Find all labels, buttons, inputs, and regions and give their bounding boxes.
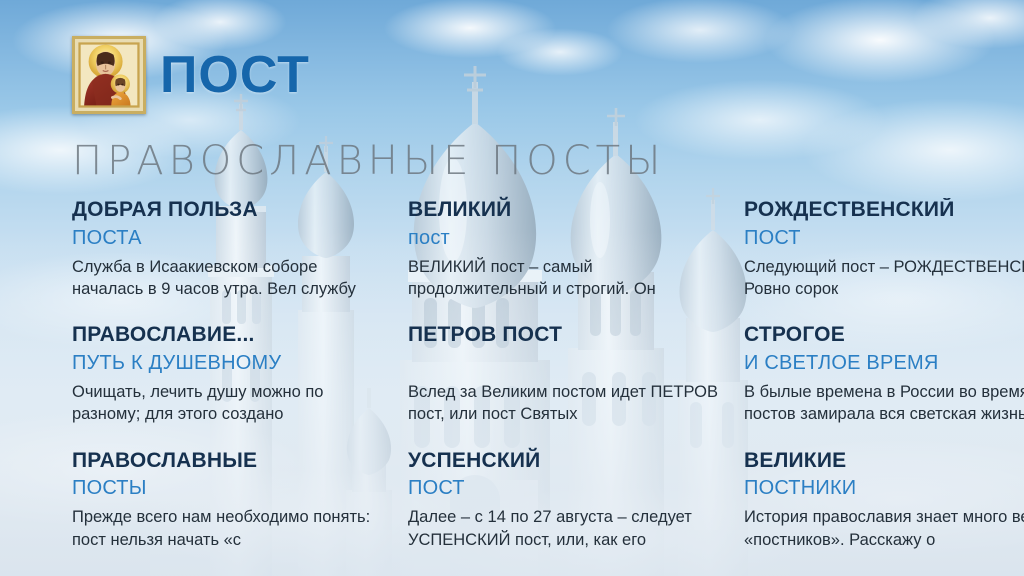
article-subheading: ПОСТ: [408, 477, 744, 500]
column-2: ВЕЛИКИЙ пост ВЕЛИКИЙ пост – самый продол…: [408, 198, 744, 574]
page-root: ПОСТ ПРАВОСЛАВНЫЕ ПОСТЫ ДОБРАЯ ПОЛЬЗА ПО…: [0, 0, 1024, 576]
article-heading: ПРАВОСЛАВИЕ...: [72, 323, 408, 347]
article-heading: ВЕЛИКИЙ: [408, 198, 744, 222]
article-heading: СТРОГОЕ: [744, 323, 1024, 347]
article-subheading: ПУТЬ К ДУШЕВНОМУ: [72, 352, 408, 375]
article-card[interactable]: ПРАВОСЛАВИЕ... ПУТЬ К ДУШЕВНОМУ Очищать,…: [72, 323, 408, 425]
article-body: Служба в Исаакиевском соборе началась в …: [72, 256, 382, 301]
article-subheading: ПОСТА: [72, 227, 408, 250]
page-subtitle: ПРАВОСЛАВНЫЕ ПОСТЫ: [72, 138, 665, 184]
site-header: ПОСТ: [72, 36, 310, 114]
article-body: В былые времена в России во время постов…: [744, 381, 1024, 426]
article-heading: УСПЕНСКИЙ: [408, 449, 744, 473]
article-card[interactable]: ВЕЛИКИЕ ПОСТНИКИ История православия зна…: [744, 449, 1024, 551]
site-title: ПОСТ: [160, 49, 310, 101]
article-subheading: пост: [408, 227, 744, 250]
article-card[interactable]: ДОБРАЯ ПОЛЬЗА ПОСТА Служба в Исаакиевско…: [72, 198, 408, 300]
article-body: Очищать, лечить душу можно по разному; д…: [72, 381, 382, 426]
article-body: Прежде всего нам необходимо понять: пост…: [72, 506, 382, 551]
article-body: ВЕЛИКИЙ пост – самый продолжительный и с…: [408, 256, 718, 301]
article-subheading: ПОСТЫ: [72, 477, 408, 500]
article-subheading: И СВЕТЛОЕ ВРЕМЯ: [744, 352, 1024, 375]
article-heading: ДОБРАЯ ПОЛЬЗА: [72, 198, 408, 222]
article-card[interactable]: ПЕТРОВ ПОСТ Вслед за Великим постом идет…: [408, 323, 744, 425]
article-body: Вслед за Великим постом идет ПЕТРОВ пост…: [408, 381, 718, 426]
article-subheading: [408, 352, 744, 375]
article-subheading: ПОСТНИКИ: [744, 477, 1024, 500]
article-card[interactable]: УСПЕНСКИЙ ПОСТ Далее – с 14 по 27 август…: [408, 449, 744, 551]
article-card[interactable]: СТРОГОЕ И СВЕТЛОЕ ВРЕМЯ В былые времена …: [744, 323, 1024, 425]
article-card[interactable]: ПРАВОСЛАВНЫЕ ПОСТЫ Прежде всего нам необ…: [72, 449, 408, 551]
column-3: РОЖДЕСТВЕНСКИЙ ПОСТ Следующий пост – РОЖ…: [744, 198, 1024, 574]
article-card[interactable]: РОЖДЕСТВЕНСКИЙ ПОСТ Следующий пост – РОЖ…: [744, 198, 1024, 300]
article-heading: ВЕЛИКИЕ: [744, 449, 1024, 473]
article-heading: ПЕТРОВ ПОСТ: [408, 323, 744, 347]
article-subheading: ПОСТ: [744, 227, 1024, 250]
article-heading: РОЖДЕСТВЕНСКИЙ: [744, 198, 1024, 222]
orthodox-icon-theotokos: [72, 36, 146, 114]
article-columns: ДОБРАЯ ПОЛЬЗА ПОСТА Служба в Исаакиевско…: [72, 198, 1024, 574]
article-body: История православия знает много великих …: [744, 506, 1024, 551]
article-card[interactable]: ВЕЛИКИЙ пост ВЕЛИКИЙ пост – самый продол…: [408, 198, 744, 300]
article-body: Далее – с 14 по 27 августа – следует УСП…: [408, 506, 718, 551]
column-1: ДОБРАЯ ПОЛЬЗА ПОСТА Служба в Исаакиевско…: [72, 198, 408, 574]
article-body: Следующий пост – РОЖДЕСТВЕНСКИЙ. Ровно с…: [744, 256, 1024, 301]
article-heading: ПРАВОСЛАВНЫЕ: [72, 449, 408, 473]
